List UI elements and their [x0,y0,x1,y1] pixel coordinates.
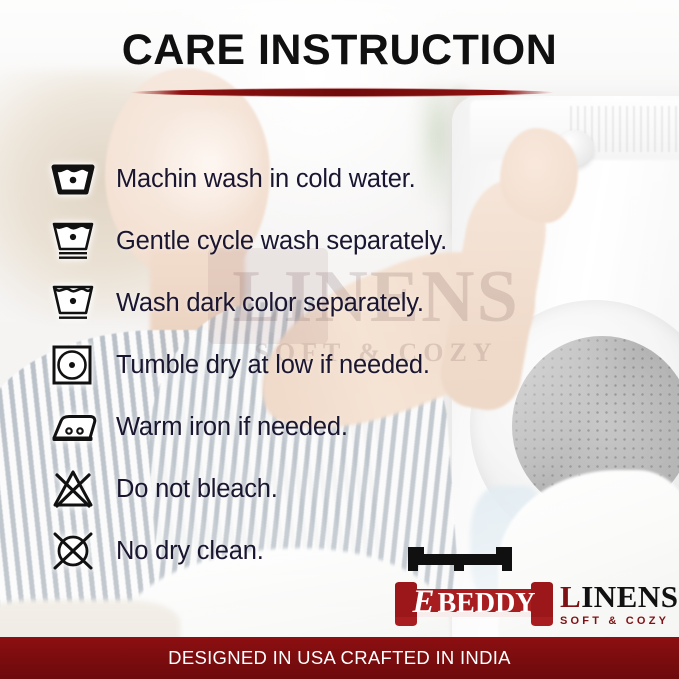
brand-wordmark: LINENS® SOFT & COZY [560,581,676,627]
bed-frame-icon [406,545,514,581]
red-swoosh-divider-core [130,89,554,96]
badge-text: E BEDDY [392,581,556,627]
do-not-bleach-icon [44,462,116,516]
list-item-label: Do not bleach. [116,475,278,504]
list-item-label: No dry clean. [116,537,264,566]
list-item: Machin wash in cold water. [44,148,644,210]
list-item: Gentle cycle wash separately. [44,210,644,272]
list-item: Warm iron if needed. [44,396,644,458]
list-item-label: Wash dark color separately. [116,289,424,318]
care-instruction-card: LINENS SOFT & COZY CARE INSTRUCTION Mach… [0,0,679,679]
banner-text: DESIGNED IN USA CRAFTED IN INDIA [168,647,511,669]
list-item: Tumble dry at low if needed. [44,334,644,396]
brand-logo: E BEDDY LINENS® SOFT & COZY [392,545,674,637]
brand-first-letter: L [560,579,581,614]
list-item: Do not bleach. [44,458,644,520]
care-instruction-list: Machin wash in cold water. Gentle cycle … [44,148,644,582]
brand-tagline: SOFT & COZY [560,615,676,627]
machine-wash-icon [44,152,116,206]
list-item-label: Tumble dry at low if needed. [116,351,430,380]
tumble-dry-low-icon [44,338,116,392]
list-item: Wash dark color separately. [44,272,644,334]
list-item-label: Machin wash in cold water. [116,165,416,194]
permanent-press-wash-icon [44,276,116,330]
bottom-banner: DESIGNED IN USA CRAFTED IN INDIA [0,637,679,679]
badge-word: BEDDY [438,590,536,618]
no-dry-clean-icon [44,524,116,578]
warm-iron-icon [44,400,116,454]
brand-name: LINENS® [560,581,676,612]
list-item-label: Warm iron if needed. [116,413,348,442]
badge-initial: E [412,586,434,619]
gentle-cycle-wash-icon [44,214,116,268]
list-item-label: Gentle cycle wash separately. [116,227,447,256]
page-title: CARE INSTRUCTION [0,26,679,75]
brand-rest: INENS [581,579,678,614]
